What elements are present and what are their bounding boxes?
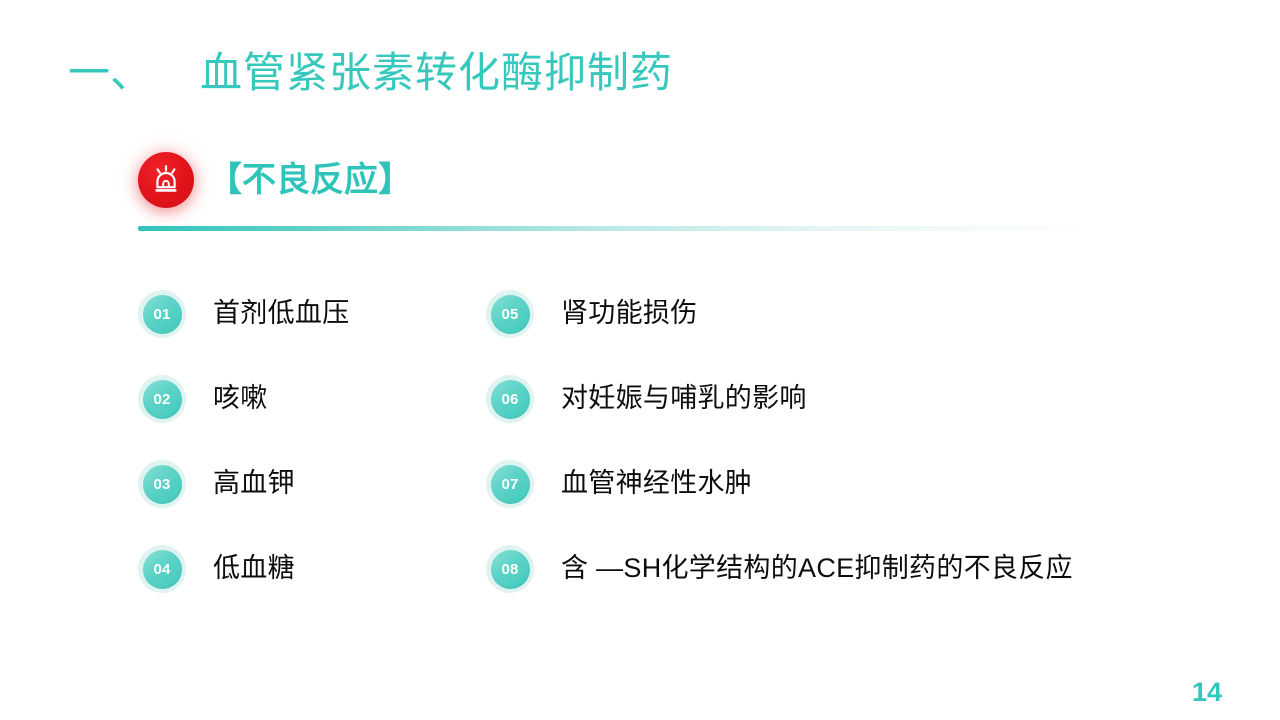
item-number-badge: 08 [486, 545, 534, 593]
item-number: 02 [153, 392, 170, 407]
list-item[interactable]: 02 咳嗽 [138, 374, 478, 459]
title-text: 血管紧张素转化酶抑制药 [200, 52, 673, 94]
item-number: 07 [501, 477, 518, 492]
list-column-left: 01 首剂低血压 02 咳嗽 03 高血钾 04 低血糖 [138, 289, 478, 629]
slide-title: 一、 血管紧张素转化酶抑制药 [68, 52, 673, 94]
item-number: 05 [501, 307, 518, 322]
list-item[interactable]: 03 高血钾 [138, 459, 478, 544]
item-number-badge: 04 [138, 545, 186, 593]
item-number-badge: 03 [138, 460, 186, 508]
item-label: 低血糖 [213, 544, 295, 592]
list-column-right: 05 肾功能损伤 06 对妊娠与哺乳的影响 07 血管神经性水肿 08 [486, 289, 1186, 629]
item-number-badge: 05 [486, 290, 534, 338]
item-number-badge: 07 [486, 460, 534, 508]
item-number: 01 [153, 307, 170, 322]
item-number-badge: 06 [486, 375, 534, 423]
section-divider [138, 226, 1094, 231]
item-label: 含 —SH化学结构的ACE抑制药的不良反应 [561, 544, 1073, 592]
item-number: 08 [501, 562, 518, 577]
list-item[interactable]: 07 血管神经性水肿 [486, 459, 1186, 544]
list-item[interactable]: 08 含 —SH化学结构的ACE抑制药的不良反应 [486, 544, 1186, 629]
item-number: 03 [153, 477, 170, 492]
page-number: 14 [1192, 679, 1222, 706]
list-item[interactable]: 01 首剂低血压 [138, 289, 478, 374]
item-number-badge: 02 [138, 375, 186, 423]
list-item[interactable]: 04 低血糖 [138, 544, 478, 629]
item-label: 对妊娠与哺乳的影响 [561, 374, 807, 422]
item-label: 咳嗽 [213, 374, 268, 422]
siren-alarm-icon [138, 152, 194, 208]
item-label: 肾功能损伤 [561, 289, 698, 337]
list-item[interactable]: 06 对妊娠与哺乳的影响 [486, 374, 1186, 459]
slide-canvas: 一、 血管紧张素转化酶抑制药 【不良反应】 01 [0, 0, 1280, 720]
item-number: 04 [153, 562, 170, 577]
item-label: 高血钾 [213, 459, 295, 507]
section-title: 【不良反应】 [208, 163, 412, 197]
item-label: 首剂低血压 [213, 289, 350, 337]
item-label: 血管神经性水肿 [561, 459, 752, 507]
section-heading: 【不良反应】 [138, 152, 412, 208]
title-number: 一、 [68, 52, 152, 94]
item-number-badge: 01 [138, 290, 186, 338]
item-number: 06 [501, 392, 518, 407]
list-item[interactable]: 05 肾功能损伤 [486, 289, 1186, 374]
